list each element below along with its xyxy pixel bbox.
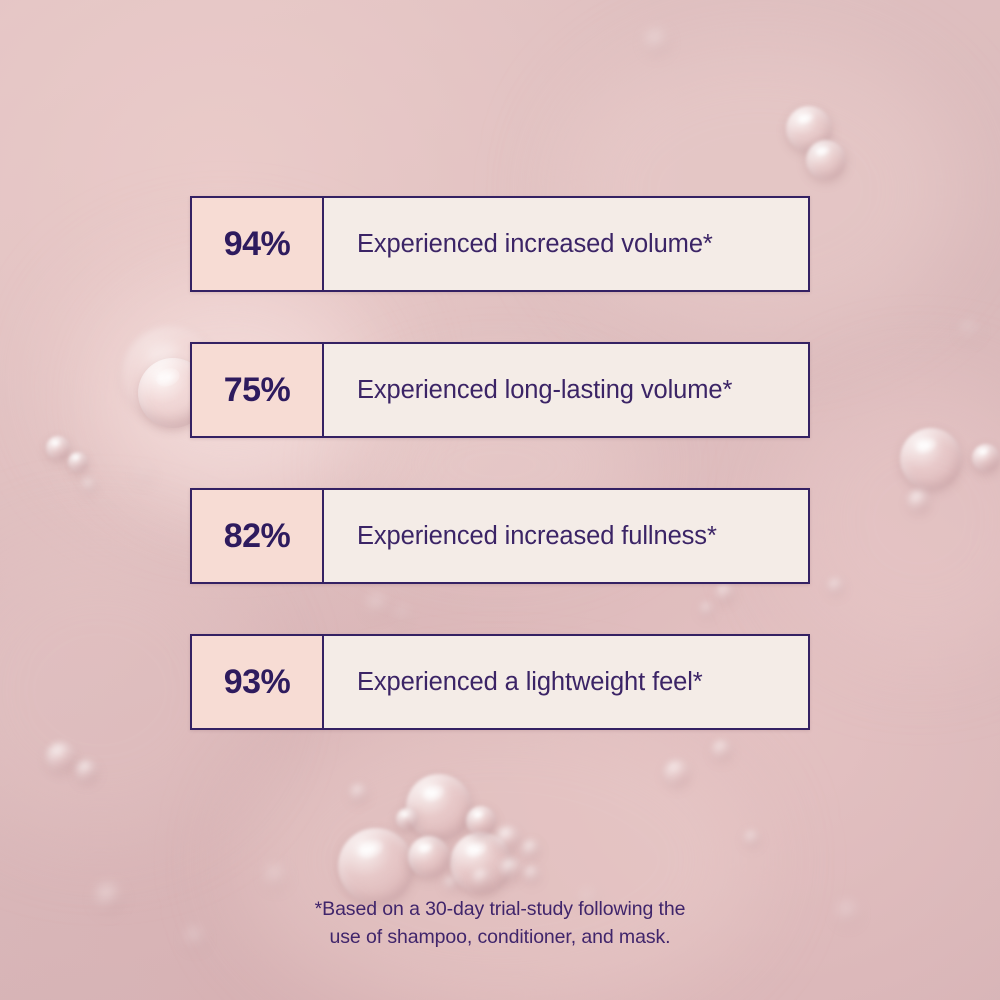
droplet — [496, 826, 520, 850]
background-sheen — [780, 380, 1000, 660]
droplet — [500, 858, 522, 880]
droplet — [444, 876, 458, 890]
droplet — [46, 742, 76, 772]
droplet — [138, 468, 150, 480]
droplet — [450, 832, 512, 894]
stat-row: 75% Experienced long-lasting volume* — [190, 342, 810, 438]
droplet — [396, 808, 418, 830]
stat-row: 93% Experienced a lightweight feel* — [190, 634, 810, 730]
droplet — [972, 444, 1000, 472]
droplet — [46, 436, 70, 460]
droplet — [806, 140, 846, 180]
droplet — [524, 866, 540, 882]
droplet — [82, 478, 96, 492]
footnote: *Based on a 30-day trial-study following… — [0, 896, 1000, 951]
stats-list: 94% Experienced increased volume* 75% Ex… — [190, 196, 810, 730]
droplet — [466, 806, 496, 836]
droplet — [900, 428, 962, 490]
background-sheen — [240, 700, 760, 1000]
droplet — [908, 490, 930, 512]
droplet — [522, 840, 540, 858]
stat-label: Experienced a lightweight feel* — [324, 636, 808, 728]
droplet — [350, 784, 368, 802]
droplet — [266, 866, 286, 886]
stat-row: 94% Experienced increased volume* — [190, 196, 810, 292]
droplet — [408, 836, 450, 878]
droplet — [712, 740, 732, 760]
droplet — [962, 322, 978, 338]
droplet — [786, 106, 832, 152]
stat-label: Experienced long-lasting volume* — [324, 344, 808, 436]
stat-label: Experienced increased volume* — [324, 198, 808, 290]
droplet — [664, 760, 690, 786]
stat-percent: 94% — [192, 198, 324, 290]
droplet — [744, 830, 760, 846]
droplet — [406, 774, 472, 840]
stat-percent: 93% — [192, 636, 324, 728]
droplet — [828, 578, 844, 594]
footnote-line-2: use of shampoo, conditioner, and mask. — [0, 924, 1000, 952]
droplet — [68, 452, 88, 472]
droplet — [646, 30, 668, 52]
footnote-line-1: *Based on a 30-day trial-study following… — [0, 896, 1000, 924]
droplet — [338, 828, 414, 904]
droplet — [76, 760, 98, 782]
stat-row: 82% Experienced increased fullness* — [190, 488, 810, 584]
stat-label: Experienced increased fullness* — [324, 490, 808, 582]
stat-percent: 75% — [192, 344, 324, 436]
stat-percent: 82% — [192, 490, 324, 582]
droplet — [472, 868, 492, 888]
